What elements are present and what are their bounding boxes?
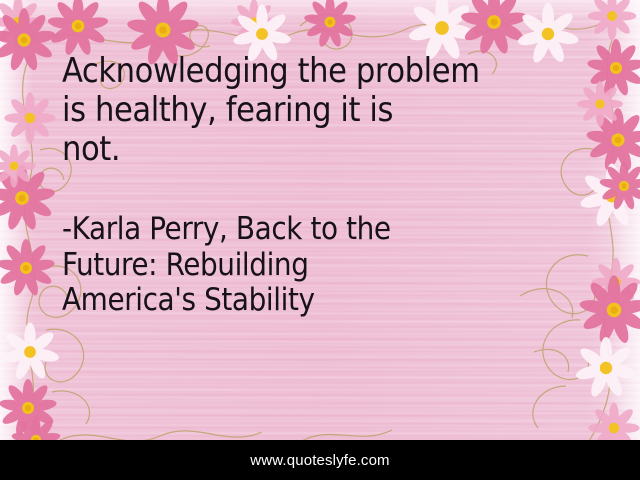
quote-line: not. xyxy=(62,130,596,169)
website-url[interactable]: www.quoteslyfe.com xyxy=(250,452,389,469)
attribution-line: -Karla Perry, Back to the xyxy=(62,212,596,247)
quote-text-block: Acknowledging the problem is healthy, fe… xyxy=(62,52,596,318)
quote-line: is healthy, fearing it is xyxy=(62,91,596,130)
quote-card: Acknowledging the problem is healthy, fe… xyxy=(0,0,640,480)
quote-line: Acknowledging the problem xyxy=(62,52,596,91)
attribution-line: Future: Rebuilding xyxy=(62,248,596,283)
footer-bar: www.quoteslyfe.com xyxy=(0,440,640,480)
quote-attribution: -Karla Perry, Back to the Future: Rebuil… xyxy=(62,212,596,318)
attribution-line: America's Stability xyxy=(62,283,596,318)
quote-body: Acknowledging the problem is healthy, fe… xyxy=(62,52,596,168)
